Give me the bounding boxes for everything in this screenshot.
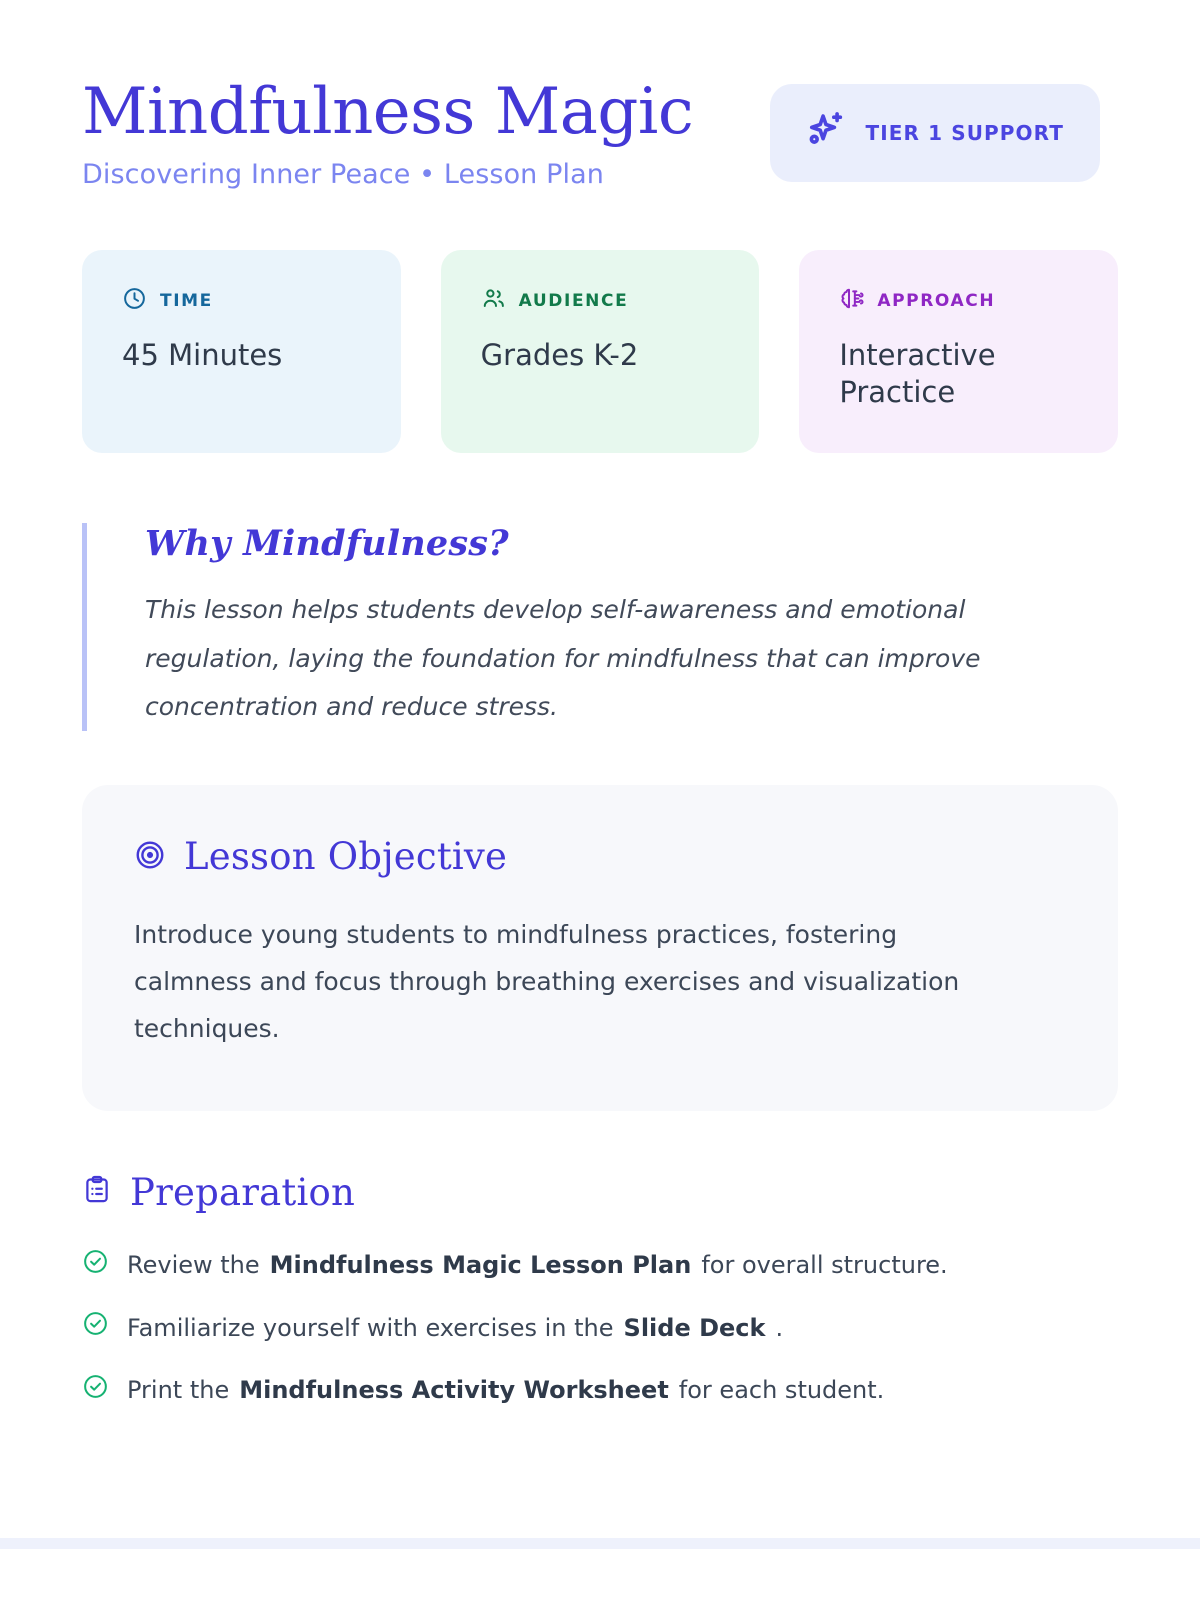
meta-card-time-head: TIME	[122, 286, 361, 315]
circle-check-icon	[82, 1373, 109, 1410]
lesson-objective-head: Lesson Objective	[134, 835, 1066, 878]
callout-text: This lesson helps students develop self-…	[145, 586, 1025, 731]
preparation-item-suffix: for each student.	[679, 1374, 885, 1408]
meta-card-time-value: 45 Minutes	[122, 337, 361, 374]
preparation-item: Review the Mindfulness Magic Lesson Plan…	[82, 1248, 1118, 1285]
circle-check-icon	[82, 1310, 109, 1347]
meta-card-audience-label: AUDIENCE	[519, 291, 629, 311]
callout-title: Why Mindfulness?	[145, 523, 1118, 564]
meta-card-audience-value: Grades K-2	[481, 337, 720, 374]
preparation-title: Preparation	[130, 1171, 355, 1214]
preparation-item-resource[interactable]: Slide Deck	[614, 1312, 776, 1346]
preparation-item-resource[interactable]: Mindfulness Magic Lesson Plan	[260, 1249, 702, 1283]
page-subtitle: Discovering Inner Peace • Lesson Plan	[82, 159, 693, 190]
header-title-group: Mindfulness Magic Discovering Inner Peac…	[82, 78, 693, 190]
lesson-objective-card: Lesson Objective Introduce young student…	[82, 785, 1118, 1110]
preparation-item: Familiarize yourself with exercises in t…	[82, 1310, 1118, 1347]
meta-card-approach-head: APPROACH	[839, 286, 1078, 315]
circle-check-icon	[82, 1248, 109, 1285]
preparation-list: Review the Mindfulness Magic Lesson Plan…	[82, 1248, 1118, 1410]
target-icon	[134, 839, 166, 875]
page-title: Mindfulness Magic	[82, 80, 693, 145]
meta-card-audience: AUDIENCE Grades K-2	[441, 250, 760, 453]
preparation-item: Print the Mindfulness Activity Worksheet…	[82, 1373, 1118, 1410]
meta-card-approach: APPROACH Interactive Practice	[799, 250, 1118, 453]
users-icon	[481, 286, 506, 315]
preparation-item-resource[interactable]: Mindfulness Activity Worksheet	[229, 1374, 679, 1408]
meta-card-row: TIME 45 Minutes AUDIENCE Grades K-2	[0, 250, 1200, 453]
page-header: Mindfulness Magic Discovering Inner Peac…	[0, 0, 1200, 190]
preparation-item-text: Print the Mindfulness Activity Worksheet…	[127, 1374, 884, 1408]
preparation-head: Preparation	[82, 1171, 1118, 1214]
preparation-item-text: Familiarize yourself with exercises in t…	[127, 1312, 783, 1346]
preparation-item-suffix: for overall structure.	[701, 1249, 947, 1283]
meta-card-approach-label: APPROACH	[877, 291, 995, 311]
preparation-item-prefix: Print the	[127, 1374, 229, 1408]
meta-card-approach-value: Interactive Practice	[839, 337, 1078, 411]
preparation-item-text: Review the Mindfulness Magic Lesson Plan…	[127, 1249, 948, 1283]
meta-card-time: TIME 45 Minutes	[82, 250, 401, 453]
tier-badge-label: TIER 1 SUPPORT	[866, 121, 1065, 145]
preparation-item-prefix: Review the	[127, 1249, 260, 1283]
tier-support-badge[interactable]: TIER 1 SUPPORT	[770, 84, 1101, 182]
preparation-item-prefix: Familiarize yourself with exercises in t…	[127, 1312, 614, 1346]
meta-card-time-label: TIME	[160, 291, 213, 311]
footer-divider-band	[0, 1538, 1200, 1549]
clipboard-list-icon	[82, 1175, 112, 1209]
lesson-plan-page: Mindfulness Magic Discovering Inner Peac…	[0, 0, 1200, 1600]
meta-card-audience-head: AUDIENCE	[481, 286, 720, 315]
preparation-section: Preparation Review the Mindfulness Magic…	[82, 1171, 1118, 1410]
clock-icon	[122, 286, 147, 315]
lesson-objective-text: Introduce young students to mindfulness …	[134, 912, 1014, 1052]
why-mindfulness-callout: Why Mindfulness? This lesson helps stude…	[82, 523, 1118, 731]
brain-icon	[839, 286, 864, 315]
lesson-objective-title: Lesson Objective	[184, 835, 507, 878]
preparation-item-suffix: .	[775, 1312, 783, 1346]
sparkles-icon	[802, 108, 848, 158]
